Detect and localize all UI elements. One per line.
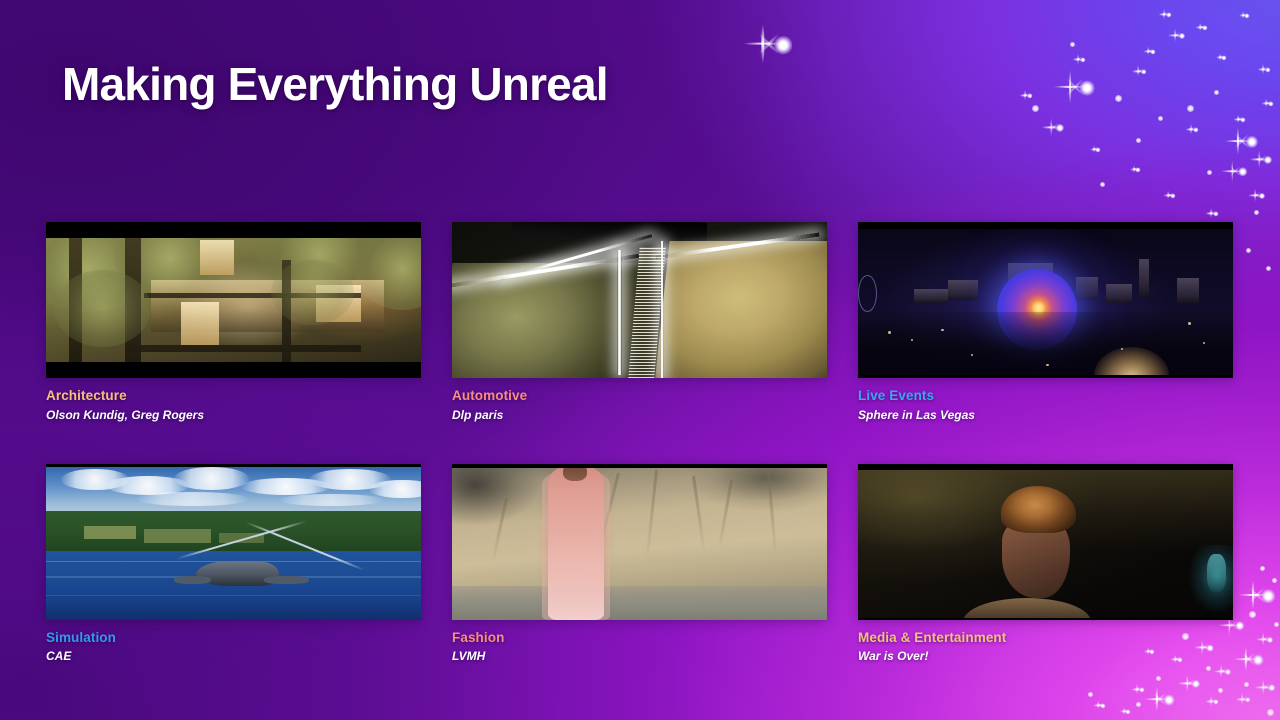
showcase-card-live-events[interactable]: Live Events Sphere in Las Vegas	[858, 222, 1233, 424]
thumbnail-live-events[interactable]	[858, 222, 1233, 378]
letterbox-bottom	[46, 362, 421, 378]
thumbnail-architecture[interactable]	[46, 222, 421, 378]
category-label: Live Events	[858, 387, 1233, 405]
credit-label: Dlp paris	[452, 407, 827, 424]
thumbnail-media-entertainment[interactable]	[858, 464, 1233, 620]
letterbox-bottom	[858, 618, 1233, 620]
letterbox-top	[858, 222, 1233, 229]
showcase-card-automotive[interactable]: Automotive Dlp paris	[452, 222, 827, 424]
slide-stage: Making Everything Unreal	[0, 0, 1280, 720]
showcase-card-architecture[interactable]: Architecture Olson Kundig, Greg Rogers	[46, 222, 421, 424]
letterbox-top	[858, 464, 1233, 470]
category-label: Automotive	[452, 387, 827, 405]
showcase-card-fashion[interactable]: Fashion LVMH	[452, 464, 827, 666]
page-title: Making Everything Unreal	[62, 57, 608, 111]
caption-architecture: Architecture Olson Kundig, Greg Rogers	[46, 378, 421, 424]
caption-automotive: Automotive Dlp paris	[452, 378, 827, 424]
thumbnail-simulation[interactable]	[46, 464, 421, 620]
caption-live-events: Live Events Sphere in Las Vegas	[858, 378, 1233, 424]
caption-simulation: Simulation CAE	[46, 620, 421, 666]
credit-label: Olson Kundig, Greg Rogers	[46, 407, 421, 424]
showcase-card-simulation[interactable]: Simulation CAE	[46, 464, 421, 666]
thumbnail-automotive[interactable]	[452, 222, 827, 378]
showcase-grid: Architecture Olson Kundig, Greg Rogers	[46, 222, 1234, 666]
showcase-card-media-entertainment[interactable]: Media & Entertainment War is Over!	[858, 464, 1233, 666]
credit-label: CAE	[46, 648, 421, 665]
thumbnail-fashion[interactable]	[452, 464, 827, 620]
caption-media-entertainment: Media & Entertainment War is Over!	[858, 620, 1233, 666]
letterbox-bottom	[858, 375, 1233, 378]
credit-label: War is Over!	[858, 648, 1233, 665]
category-label: Media & Entertainment	[858, 629, 1233, 647]
category-label: Fashion	[452, 629, 827, 647]
caption-fashion: Fashion LVMH	[452, 620, 827, 666]
letterbox-top	[452, 464, 827, 468]
category-label: Architecture	[46, 387, 421, 405]
letterbox-top	[46, 222, 421, 238]
letterbox-top	[46, 464, 421, 467]
credit-label: LVMH	[452, 648, 827, 665]
credit-label: Sphere in Las Vegas	[858, 407, 1233, 424]
category-label: Simulation	[46, 629, 421, 647]
